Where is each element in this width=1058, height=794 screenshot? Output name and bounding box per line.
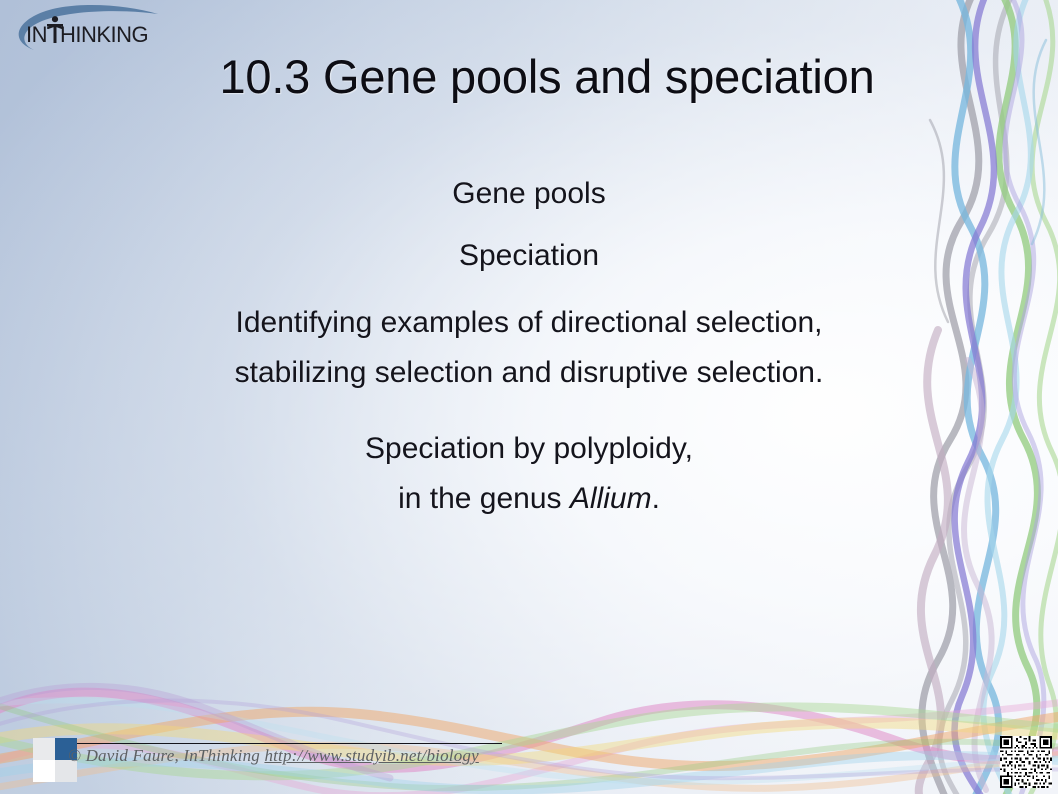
body-paragraph-polyploidy: Speciation by polyploidy, in the genus A… xyxy=(0,424,1058,524)
genus-suffix: . xyxy=(652,482,660,515)
body-line-gene-pools: Gene pools xyxy=(0,176,1058,212)
body-line-speciation: Speciation xyxy=(0,238,1058,274)
body-paragraph-selection-types: Identifying examples of directional sele… xyxy=(0,298,1058,398)
genus-name-allium: Allium xyxy=(570,482,652,515)
svg-text:HINKING: HINKING xyxy=(60,22,148,47)
footer-divider xyxy=(70,743,502,744)
footer-url-link[interactable]: http://www.studyib.net/biology xyxy=(264,746,478,765)
footer-credit: © David Faure, InThinking http://www.stu… xyxy=(68,745,479,767)
body-paragraph-selection-types-line1: Identifying examples of directional sele… xyxy=(0,298,1058,348)
svg-text:IN: IN xyxy=(26,22,47,47)
mark-square-bottom-left xyxy=(33,760,55,782)
body-paragraph-polyploidy-line1: Speciation by polyploidy, xyxy=(0,424,1058,474)
body-paragraph-polyploidy-line2: in the genus Allium. xyxy=(0,474,1058,524)
qr-code-icon[interactable] xyxy=(1000,736,1052,788)
footer-credit-text: © David Faure, InThinking xyxy=(68,746,264,765)
body-paragraph-selection-types-line2: stabilizing selection and disruptive sel… xyxy=(0,348,1058,398)
slide-canvas: IN HINKING 10.3 Gene pools and speciatio… xyxy=(0,0,1058,794)
page-title: 10.3 Gene pools and speciation xyxy=(0,50,1058,104)
slide-body: Gene pools Speciation Identifying exampl… xyxy=(0,176,1058,524)
mark-square-top-left xyxy=(33,738,55,760)
inthinking-logo: IN HINKING xyxy=(8,2,168,56)
genus-prefix: in the genus xyxy=(398,482,570,515)
